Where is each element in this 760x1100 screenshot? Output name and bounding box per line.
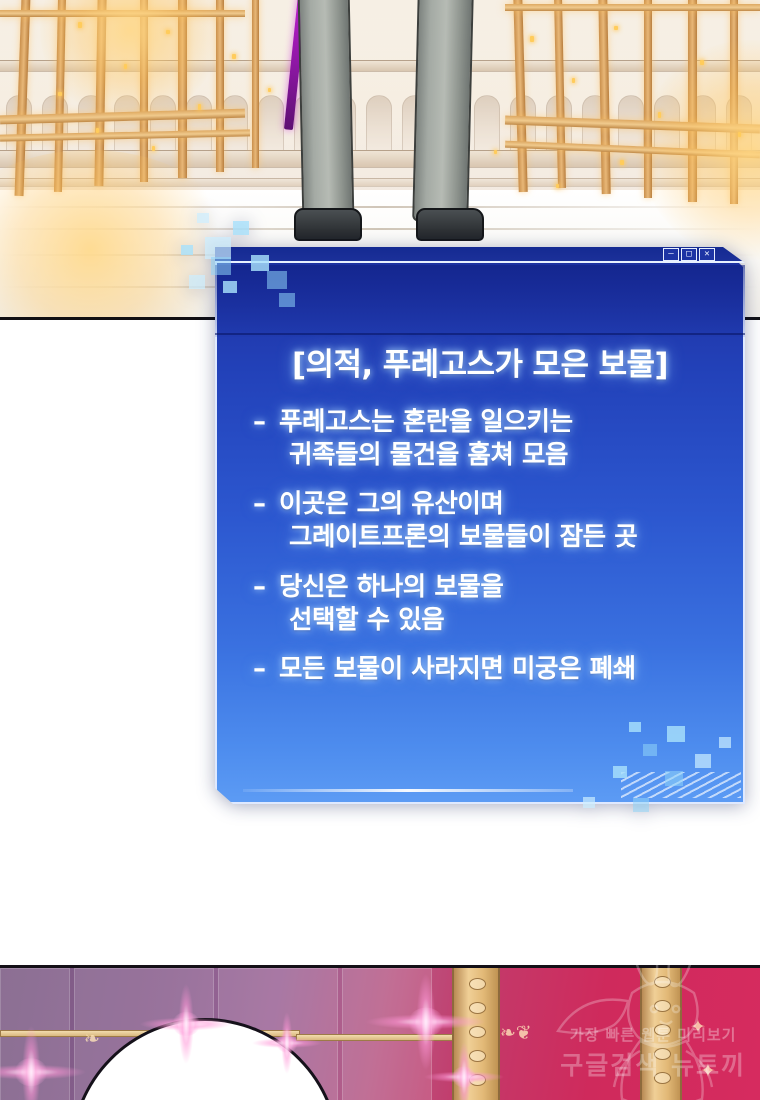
system-message-window[interactable]: – □ ✕ [의적, 푸레고스가 모은 보물] – [215,247,745,804]
scaffold-beam [688,0,697,202]
glitch-pixel-block [189,275,205,289]
dialog-bullet-list: – 푸레고스는 혼란을 일으키는 귀족들의 물건을 훔쳐 모음 – 이곳은 그의… [231,406,729,687]
glitch-pixel-block [633,798,649,812]
gilded-pillar [452,968,500,1100]
close-icon[interactable]: ✕ [699,248,715,261]
dialog-header-divider [215,333,745,335]
bullet-marker: – [253,488,279,554]
scaffold-crossbeam [0,10,245,17]
glitch-pixel-block [251,255,269,271]
scaffold-beam [178,0,187,178]
ember-spark [96,128,99,133]
glitch-pixel-block [279,293,295,307]
list-item: – 당신은 하나의 보물을 선택할 수 있음 [253,571,729,637]
scaffold-beam [216,0,224,172]
bullet-line: 귀족들의 물건을 훔쳐 모음 [279,439,729,472]
bullet-line: 선택할 수 있음 [279,604,729,637]
glitch-pixel-block [181,245,193,255]
pillar-gem [469,1026,486,1038]
bullet-line: 이곳은 그의 유산이며 [279,488,729,521]
dialog-title: [의적, 푸레고스가 모은 보물] [231,339,729,384]
glitch-pixel-block [583,797,595,808]
scaffold-beam [252,0,259,168]
pillar-gem [654,1000,671,1012]
ember-spark [572,78,575,83]
bullet-line: 모든 보물이 사라지면 미궁은 폐쇄 [279,653,729,686]
arch [114,95,140,153]
arch [150,95,176,153]
dialog-content: [의적, 푸레고스가 모은 보물] – 푸레고스는 혼란을 일으키는 귀족들의 … [215,339,745,703]
ember-spark [494,150,497,154]
glitch-pixel-block [629,722,641,732]
bullet-text: 당신은 하나의 보물을 선택할 수 있음 [279,571,729,637]
maximize-icon[interactable]: □ [681,248,697,261]
list-item: – 이곳은 그의 유산이며 그레이트프론의 보물들이 잠든 곳 [253,488,729,554]
glitch-pixel-block [197,213,209,223]
pillar-gem [654,1048,671,1060]
character-leg-right [412,0,474,223]
pillar-gem [654,1072,671,1084]
pillar-gem [469,1050,486,1062]
arch [258,95,284,153]
ember-spark [738,132,741,137]
stage-rail [296,1034,476,1041]
ember-spark [700,60,704,65]
scroll-ornament: ❧​❦ [500,1022,532,1044]
floor-line [0,228,760,230]
arch [366,95,392,153]
dialog-bottom-accent-line [243,789,573,792]
glitch-pixel-block [205,237,231,259]
ember-spark [530,36,534,42]
bullet-text: 모든 보물이 사라지면 미궁은 폐쇄 [279,653,729,687]
pillar-gem [654,976,671,988]
ember-spark [614,26,618,30]
scaffold-beam [730,0,738,204]
ember-spark [658,112,661,118]
character-shoe-right [416,208,484,241]
bullet-text: 푸레고스는 혼란을 일으키는 귀족들의 물건을 훔쳐 모음 [279,406,729,472]
ember-spark [124,64,127,69]
arch [222,95,248,153]
glitch-pixel-block [643,744,657,756]
bullet-marker: – [253,406,279,472]
minimize-icon[interactable]: – [663,248,679,261]
glitch-pixel-block [223,281,237,293]
bullet-line: 푸레고스는 혼란을 일으키는 [279,406,729,439]
scroll-ornament: ✦ [700,1060,716,1082]
list-item: – 모든 보물이 사라지면 미궁은 폐쇄 [253,653,729,687]
ember-spark [556,184,559,188]
bullet-text: 이곳은 그의 유산이며 그레이트프론의 보물들이 잠든 곳 [279,488,729,554]
pillar-gem [654,1024,671,1036]
scroll-ornament: ✦ [690,1016,706,1038]
scaffold-beam [140,0,148,182]
glitch-pixel-block [665,771,683,786]
glitch-pixel-block [613,766,627,778]
bullet-marker: – [253,653,279,687]
arch [474,95,500,153]
glitch-pixel-block [211,257,231,275]
pillar-gem [469,1002,486,1014]
pillar-gem [469,1074,486,1086]
list-item: – 푸레고스는 혼란을 일으키는 귀족들의 물건을 훔쳐 모음 [253,406,729,472]
gilded-pillar [640,968,682,1100]
pillar-gem [469,978,486,990]
character-shoe-left [294,208,362,241]
window-controls[interactable]: – □ ✕ [663,248,715,261]
bullet-line: 그레이트프론의 보물들이 잠든 곳 [279,521,729,554]
ember-spark [166,30,170,34]
bullet-line: 당신은 하나의 보물을 [279,571,729,604]
bullet-marker: – [253,571,279,637]
glitch-pixel-block [719,737,731,748]
glitch-pixel-block [667,726,685,742]
ember-spark [58,92,62,96]
character-leg-left [298,0,355,223]
webtoon-page: – □ ✕ [의적, 푸레고스가 모은 보물] – [0,0,760,1100]
glitch-pixel-block [233,221,249,235]
scaffold-beam [644,0,652,198]
scaffold-crossbeam [505,4,760,11]
glitch-pixel-block [267,271,287,289]
glitch-pixel-block [695,754,711,768]
ember-spark [232,54,236,59]
ember-spark [620,160,624,165]
floor-line [0,206,760,208]
ember-spark [268,88,271,92]
ember-spark [152,146,155,151]
ember-spark [198,104,201,110]
ember-spark [78,22,82,28]
